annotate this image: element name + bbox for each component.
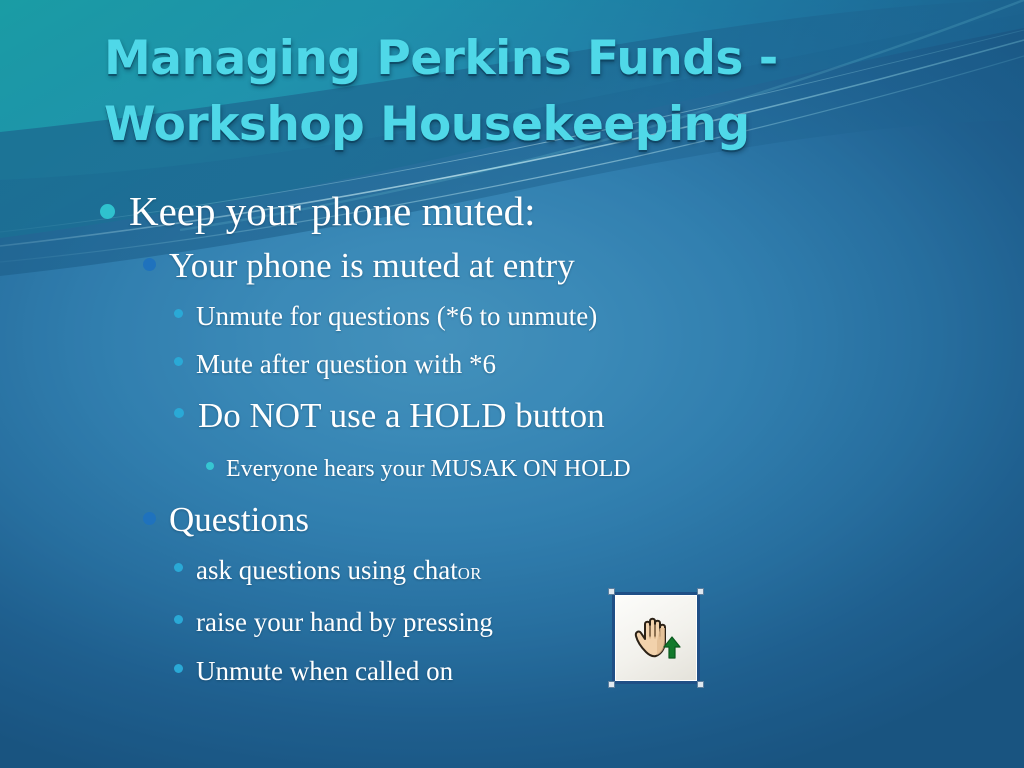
resize-handle-top-left[interactable]	[608, 588, 615, 595]
resize-handle-bottom-right[interactable]	[697, 681, 704, 688]
list-item: Your phone is muted at entry	[0, 240, 1024, 292]
raise-hand-button-face[interactable]	[612, 592, 700, 684]
list-item: Do NOT use a HOLD button	[0, 388, 1024, 444]
list-item-label: ask questions using chat	[196, 546, 458, 595]
raise-hand-icon	[626, 608, 686, 668]
list-item-label: Mute after question with *6	[196, 340, 496, 388]
page-title: Managing Perkins Funds - Workshop Housek…	[104, 26, 884, 158]
list-item: Mute after question with *6	[0, 340, 1024, 388]
list-item: ask questions using chat OR	[0, 546, 1024, 598]
up-arrow-icon	[664, 637, 680, 658]
list-item: Everyone hears your MUSAK ON HOLD	[0, 444, 1024, 494]
raise-hand-button-image[interactable]	[612, 592, 700, 684]
list-item-label: Keep your phone muted:	[129, 182, 535, 240]
resize-handle-bottom-left[interactable]	[608, 681, 615, 688]
bullet-dot-icon	[174, 563, 183, 572]
bullet-dot-icon	[174, 408, 184, 418]
list-item-label: Your phone is muted at entry	[169, 240, 575, 292]
bullet-dot-icon	[206, 462, 214, 470]
resize-handle-top-right[interactable]	[697, 588, 704, 595]
bullet-dot-icon	[174, 664, 183, 673]
list-item-suffix-or: OR	[458, 549, 482, 598]
bullet-dot-icon	[143, 258, 156, 271]
list-item: raise your hand by pressing	[0, 598, 1024, 647]
list-item: Questions	[0, 494, 1024, 546]
list-item-label: Unmute for questions (*6 to unmute)	[196, 292, 597, 340]
list-item: Unmute when called on	[0, 647, 1024, 696]
bullet-dot-icon	[174, 309, 183, 318]
list-item-label: Questions	[169, 494, 309, 546]
bullet-dot-icon	[100, 204, 115, 219]
slide-canvas: Managing Perkins Funds - Workshop Housek…	[0, 0, 1024, 768]
title-block: Managing Perkins Funds - Workshop Housek…	[104, 26, 884, 158]
list-item: Unmute for questions (*6 to unmute)	[0, 292, 1024, 340]
bullet-dot-icon	[174, 615, 183, 624]
bullet-dot-icon	[174, 357, 183, 366]
bullet-dot-icon	[143, 512, 156, 525]
list-item-label: Everyone hears your MUSAK ON HOLD	[226, 444, 631, 494]
list-item: Keep your phone muted:	[0, 182, 1024, 240]
list-item-label: Unmute when called on	[196, 647, 453, 696]
bullet-list: Keep your phone muted: Your phone is mut…	[0, 182, 1024, 696]
list-item-label: raise your hand by pressing	[196, 598, 493, 647]
list-item-label: Do NOT use a HOLD button	[198, 388, 605, 444]
